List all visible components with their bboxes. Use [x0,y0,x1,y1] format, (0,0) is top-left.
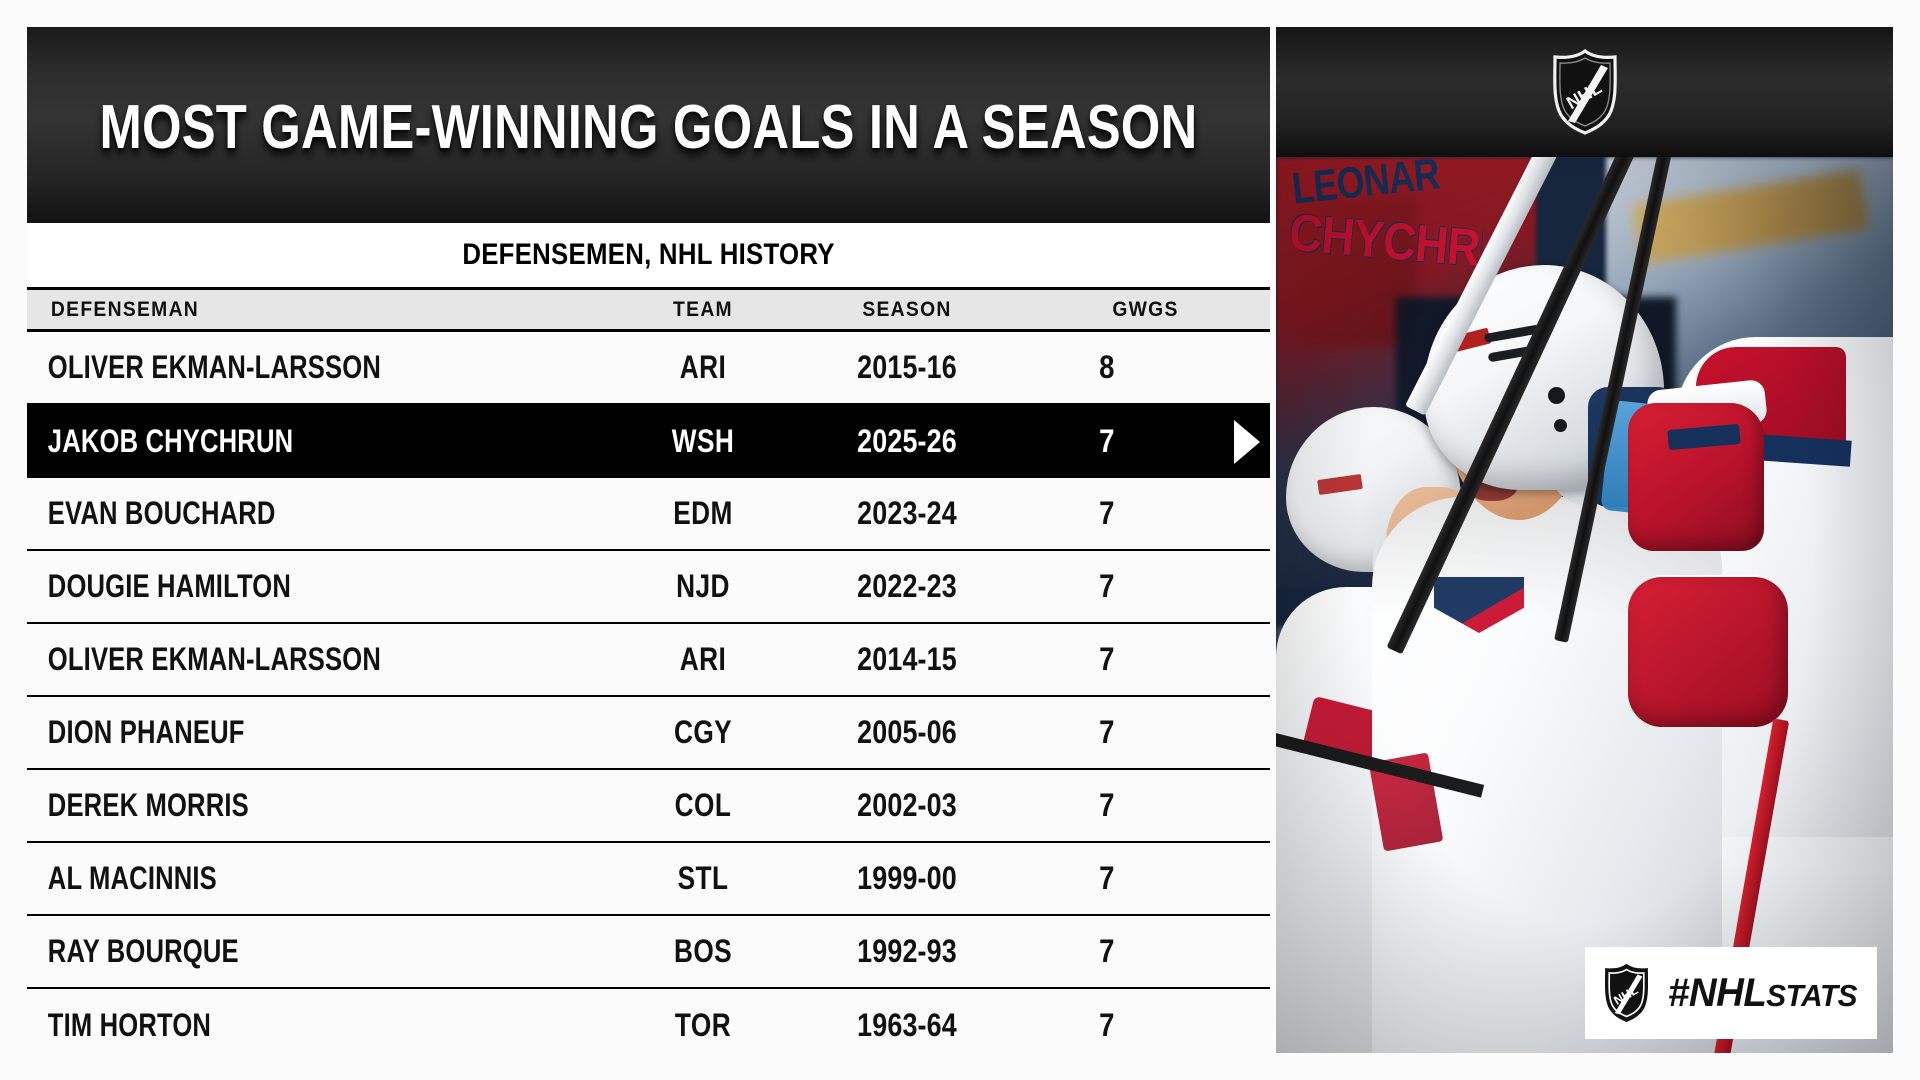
photo-panel: NHL LEONARD [1276,27,1893,1053]
cell-season: 1999-00 [811,860,1003,897]
table-row-highlighted: JAKOB CHYCHRUN WSH 2025-26 7 [27,405,1270,478]
title-bar: MOST GAME-WINNING GOALS IN A SEASON [27,27,1270,223]
cell-defenseman: AL MACINNIS [27,860,496,897]
nhl-stats-hash: #NHL [1668,971,1766,1015]
table-row: DOUGIE HAMILTON NJD 2022-23 7 [27,551,1270,624]
row-pointer-arrow-icon [1234,420,1260,464]
nhl-stats-wordmark: #NHLSTATS [1668,971,1857,1016]
cell-gwgs: 7 [1038,641,1252,678]
cell-team: ARI [629,641,777,678]
cell-gwgs: 7 [1038,787,1252,824]
nhl-shield-icon: NHL [1548,49,1622,135]
cell-gwgs: 7 [1038,423,1252,460]
cell-defenseman: RAY BOURQUE [27,933,496,970]
cell-season: 2002-03 [811,787,1003,824]
cell-defenseman: DEREK MORRIS [27,787,496,824]
cell-gwgs: 7 [1038,933,1252,970]
cell-season: 2022-23 [811,568,1003,605]
nhl-stats-word: STATS [1766,978,1857,1013]
cell-team: EDM [629,495,777,532]
table-row: DEREK MORRIS COL 2002-03 7 [27,770,1270,843]
nhl-stats-badge: NHL #NHLSTATS [1585,947,1877,1039]
table-row: OLIVER EKMAN-LARSSON ARI 2014-15 7 [27,624,1270,697]
table-row: AL MACINNIS STL 1999-00 7 [27,843,1270,916]
cell-season: 2025-26 [811,423,1003,460]
cell-team: NJD [629,568,777,605]
column-header-gwgs: GWGS [1031,298,1260,322]
cell-season: 1963-64 [811,1007,1003,1044]
page-title: MOST GAME-WINNING GOALS IN A SEASON [100,92,1198,163]
cell-defenseman: OLIVER EKMAN-LARSSON [27,641,496,678]
cell-defenseman: EVAN BOUCHARD [27,495,496,532]
cell-defenseman: JAKOB CHYCHRUN [27,423,496,460]
cell-team: TOR [629,1007,777,1044]
cell-season: 2023-24 [811,495,1003,532]
cell-defenseman: TIM HORTON [27,1007,496,1044]
stats-panel: MOST GAME-WINNING GOALS IN A SEASON DEFE… [27,27,1270,1053]
cell-season: 2005-06 [811,714,1003,751]
table-row: RAY BOURQUE BOS 1992-93 7 [27,916,1270,989]
table-row: EVAN BOUCHARD EDM 2023-24 7 [27,478,1270,551]
cell-team: BOS [629,933,777,970]
cell-gwgs: 7 [1038,568,1252,605]
cell-defenseman: DOUGIE HAMILTON [27,568,496,605]
cell-team: STL [629,860,777,897]
column-header-season: SEASON [802,298,1012,322]
photo-helmet-ear-port [1554,419,1567,432]
photo-header-bar: NHL [1276,27,1893,157]
photo-helmet-ear-port [1548,387,1565,404]
cell-gwgs: 8 [1038,349,1252,386]
table-row: DION PHANEUF CGY 2005-06 7 [27,697,1270,770]
subtitle-band: DEFENSEMEN, NHL HISTORY [27,223,1270,290]
graphic-canvas: MOST GAME-WINNING GOALS IN A SEASON DEFE… [0,0,1920,1080]
cell-gwgs: 7 [1038,860,1252,897]
stats-table: DEFENSEMAN TEAM SEASON GWGS OLIVER EKMAN… [27,290,1270,1053]
cell-team: CGY [629,714,777,751]
subtitle: DEFENSEMEN, NHL HISTORY [462,238,834,272]
cell-season: 2014-15 [811,641,1003,678]
photo-glove-red-lower [1628,577,1788,727]
cell-gwgs: 7 [1038,495,1252,532]
cell-defenseman: DION PHANEUF [27,714,496,751]
column-header-team: TEAM [620,298,786,322]
celebration-photo: LEONARD CHYCHRUN [1276,157,1893,1053]
photo-glove-red [1628,403,1764,551]
cell-season: 1992-93 [811,933,1003,970]
cell-gwgs: 7 [1038,714,1252,751]
table-header-row: DEFENSEMAN TEAM SEASON GWGS [27,290,1270,332]
table-row: TIM HORTON TOR 1963-64 7 [27,989,1270,1062]
cell-team: ARI [629,349,777,386]
cell-season: 2015-16 [811,349,1003,386]
cell-team: WSH [629,423,777,460]
cell-defenseman: OLIVER EKMAN-LARSSON [27,349,496,386]
cell-team: COL [629,787,777,824]
column-header-defenseman: DEFENSEMAN [27,298,566,322]
table-row: OLIVER EKMAN-LARSSON ARI 2015-16 8 [27,332,1270,405]
nhl-shield-icon-badge: NHL [1601,958,1652,1028]
cell-gwgs: 7 [1038,1007,1252,1044]
